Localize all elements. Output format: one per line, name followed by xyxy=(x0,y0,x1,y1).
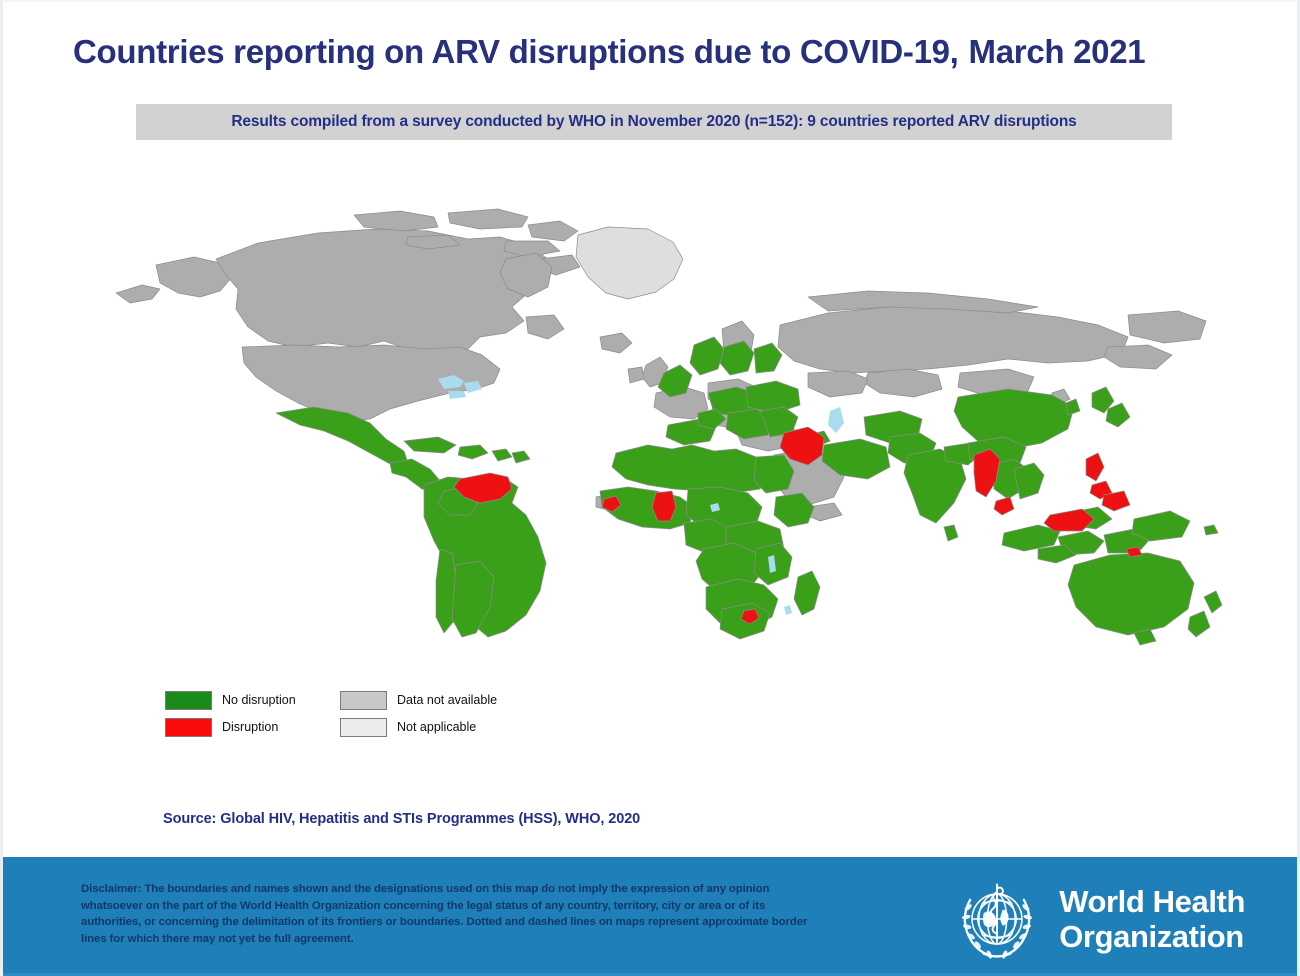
legend-label-data-not-available: Data not available xyxy=(397,693,497,707)
legend-label-no-disruption: No disruption xyxy=(222,693,296,707)
legend-swatch-no-disruption xyxy=(165,691,212,710)
legend-item-no-disruption: No disruption xyxy=(165,691,340,710)
page-title: Countries reporting on ARV disruptions d… xyxy=(73,33,1233,71)
slide-canvas: Countries reporting on ARV disruptions d… xyxy=(0,0,1300,976)
legend-row: No disruption Data not available xyxy=(165,688,585,712)
who-wordmark: World Health Organization xyxy=(1059,884,1245,954)
page-title-main: Countries reporting on ARV disruptions d… xyxy=(73,33,959,70)
country-malaysia xyxy=(994,497,1014,515)
legend-row: Disruption Not applicable xyxy=(165,715,585,739)
world-map-svg xyxy=(108,197,1228,667)
country-philippines xyxy=(1086,453,1104,481)
who-logo: World Health Organization xyxy=(949,871,1245,967)
subtitle-band: Results compiled from a survey conducted… xyxy=(136,104,1172,140)
legend-label-disruption: Disruption xyxy=(222,720,278,734)
world-map xyxy=(108,197,1228,667)
legend-item-data-not-available: Data not available xyxy=(340,691,515,710)
source-line: Source: Global HIV, Hepatitis and STIs P… xyxy=(163,811,640,827)
who-wordmark-line1: World Health xyxy=(1059,884,1245,919)
legend-label-not-applicable: Not applicable xyxy=(397,720,476,734)
legend-swatch-disruption xyxy=(165,718,212,737)
who-wordmark-line2: Organization xyxy=(1059,919,1245,954)
map-layer-not-applicable xyxy=(576,227,683,299)
map-legend: No disruption Data not available Disrupt… xyxy=(165,688,585,742)
page-title-date: March 2021 xyxy=(969,33,1146,70)
legend-swatch-not-applicable xyxy=(340,718,387,737)
subtitle-text: Results compiled from a survey conducted… xyxy=(231,113,1076,131)
legend-item-not-applicable: Not applicable xyxy=(340,718,515,737)
disclaimer-text: Disclaimer: The boundaries and names sho… xyxy=(81,881,811,947)
footer-band: Disclaimer: The boundaries and names sho… xyxy=(3,857,1297,976)
who-emblem-icon xyxy=(949,871,1045,967)
legend-swatch-data-not-available xyxy=(340,691,387,710)
legend-item-disruption: Disruption xyxy=(165,718,340,737)
